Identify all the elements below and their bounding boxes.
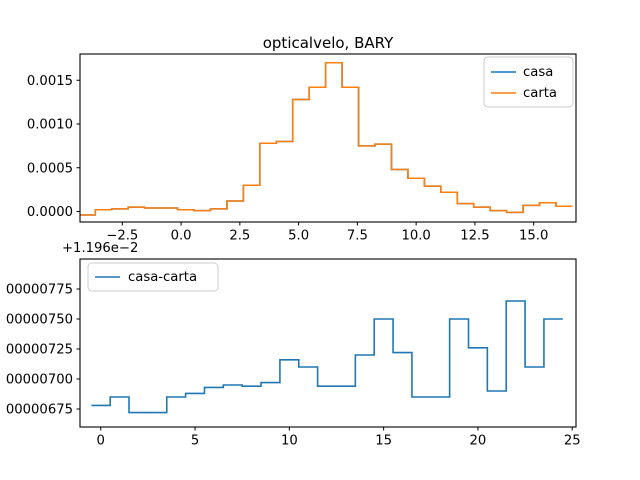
- xtick-label: 25: [564, 434, 581, 449]
- xtick-label: 5.0: [288, 229, 309, 244]
- xtick-label: 15.0: [519, 229, 548, 244]
- series-line-casa-carta: [91, 301, 562, 413]
- bottom-panel-xticks: 0510152025: [97, 427, 581, 449]
- matplotlib-figure: opticalvelo, BARY 0.00000.00050.00100.00…: [0, 0, 640, 480]
- ytick-label: 00000775: [6, 283, 73, 298]
- xtick-label: 10: [281, 434, 298, 449]
- xtick-label: 15: [375, 434, 392, 449]
- ytick-label: 0.0000: [27, 205, 73, 220]
- top-panel-yticks: 0.00000.00050.00100.0015: [27, 74, 80, 220]
- xtick-label: 10.0: [401, 229, 430, 244]
- ytick-label: 00000700: [6, 373, 73, 388]
- legend-label-casa-carta: casa-carta: [128, 270, 197, 285]
- legend-label-carta: carta: [523, 86, 557, 101]
- ytick-label: 0.0010: [27, 118, 73, 133]
- figure-canvas: opticalvelo, BARY 0.00000.00050.00100.00…: [0, 0, 640, 480]
- top-panel-x-offset-text: +1.196e−2: [62, 241, 138, 256]
- xtick-label: 20: [470, 434, 487, 449]
- xtick-label: 0: [97, 434, 105, 449]
- ytick-label: 00000750: [6, 313, 73, 328]
- top-panel-axes: 0.00000.00050.00100.0015 −2.50.02.55.07.…: [27, 54, 576, 256]
- top-panel-legend[interactable]: casa carta: [484, 57, 573, 107]
- xtick-label: 0.0: [171, 229, 192, 244]
- xtick-label: 7.5: [347, 229, 368, 244]
- bottom-panel-axes: 0000067500000700000007250000075000000775…: [6, 259, 581, 449]
- ytick-label: 00000725: [6, 343, 73, 358]
- xtick-label: 5: [191, 434, 199, 449]
- xtick-label: 2.5: [229, 229, 250, 244]
- legend-label-casa: casa: [523, 65, 553, 80]
- ytick-label: 0.0005: [27, 161, 73, 176]
- bottom-panel-data: [91, 301, 562, 413]
- ytick-label: 0.0015: [27, 74, 73, 89]
- bottom-panel-legend[interactable]: casa-carta: [88, 263, 218, 291]
- xtick-label: 12.5: [460, 229, 489, 244]
- ytick-label: 00000675: [6, 403, 73, 418]
- top-panel-xticks: −2.50.02.55.07.510.012.515.0: [106, 222, 548, 244]
- bottom-panel-yticks: 0000067500000700000007250000075000000775: [6, 283, 80, 418]
- figure-title: opticalvelo, BARY: [263, 34, 394, 52]
